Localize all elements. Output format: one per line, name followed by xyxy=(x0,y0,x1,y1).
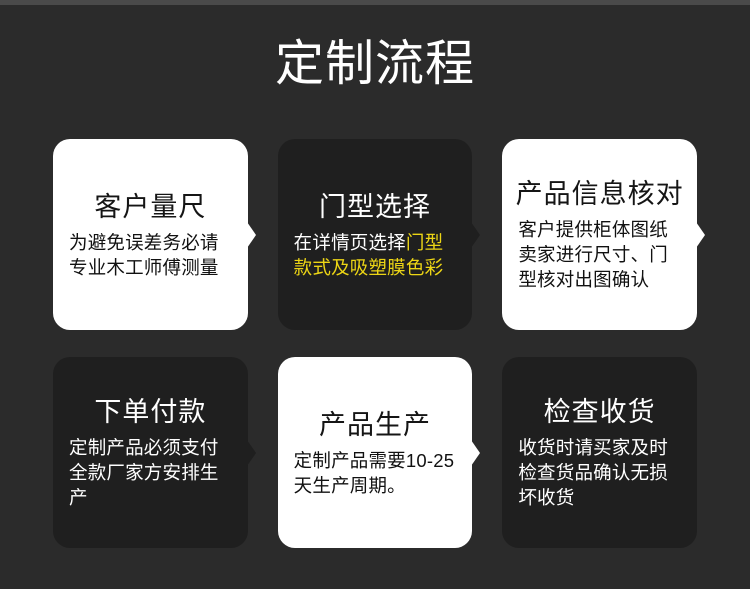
step-5-description: 定制产品需要10-25 天生产周期。 xyxy=(290,448,461,498)
step-6-desc-line-1: 收货时请买家及时 xyxy=(518,435,681,460)
step-card-3[interactable]: 产品信息核对 客户提供柜体图纸 卖家进行尺寸、门 型核对出图确认 xyxy=(502,139,697,330)
customization-process-infographic: 定制流程 客户量尺 为避免误差务必请 专业木工师傅测量 门型选择 在详情页选择门… xyxy=(0,0,750,589)
step-1-title: 客户量尺 xyxy=(65,190,236,224)
step-3-description: 客户提供柜体图纸 卖家进行尺寸、门 型核对出图确认 xyxy=(514,217,685,292)
steps-row-2: 下单付款 定制产品必须支付 全款厂家方安排生 产 产品生产 定制产品需要10-2… xyxy=(53,357,697,548)
step-5-desc-line-2: 天生产周期。 xyxy=(294,473,457,498)
step-4-desc-line-3: 产 xyxy=(69,485,232,510)
step-3-desc-line-2: 卖家进行尺寸、门 xyxy=(518,242,681,267)
step-5-title: 产品生产 xyxy=(290,408,461,442)
step-1-desc-line-1: 为避免误差务必请 xyxy=(69,230,232,255)
step-card-6[interactable]: 检查收货 收货时请买家及时 检查货品确认无损 坏收货 xyxy=(502,357,697,548)
step-2-title: 门型选择 xyxy=(290,190,461,224)
step-6-description: 收货时请买家及时 检查货品确认无损 坏收货 xyxy=(514,435,685,510)
step-card-5[interactable]: 产品生产 定制产品需要10-25 天生产周期。 xyxy=(278,357,473,548)
step-2-desc-highlight-part-1: 门型 xyxy=(406,232,443,253)
step-6-desc-line-2: 检查货品确认无损 xyxy=(518,460,681,485)
step-card-1[interactable]: 客户量尺 为避免误差务必请 专业木工师傅测量 xyxy=(53,139,248,330)
arrow-right-icon xyxy=(471,222,480,248)
step-card-2[interactable]: 门型选择 在详情页选择门型 款式及吸塑膜色彩 xyxy=(278,139,473,330)
arrow-right-icon xyxy=(471,440,480,466)
steps-row-1: 客户量尺 为避免误差务必请 专业木工师傅测量 门型选择 在详情页选择门型 款式及… xyxy=(53,139,697,330)
top-edge-strip xyxy=(0,0,750,5)
step-5-desc-line-1: 定制产品需要10-25 xyxy=(294,448,457,473)
arrow-right-icon xyxy=(247,440,256,466)
step-1-desc-line-2: 专业木工师傅测量 xyxy=(69,255,232,280)
step-3-title: 产品信息核对 xyxy=(514,177,685,211)
step-6-desc-line-3: 坏收货 xyxy=(518,485,681,510)
step-card-4[interactable]: 下单付款 定制产品必须支付 全款厂家方安排生 产 xyxy=(53,357,248,548)
step-2-description: 在详情页选择门型 款式及吸塑膜色彩 xyxy=(290,230,461,280)
step-2-desc-line-1: 在详情页选择门型 xyxy=(294,230,457,255)
step-4-desc-line-1: 定制产品必须支付 xyxy=(69,435,232,460)
step-3-desc-line-3: 型核对出图确认 xyxy=(518,267,681,292)
arrow-right-icon xyxy=(696,222,705,248)
step-4-title: 下单付款 xyxy=(65,395,236,429)
arrow-right-icon xyxy=(247,222,256,248)
step-2-desc-highlight-part-2: 款式及吸塑膜色彩 xyxy=(294,255,457,280)
steps-grid: 客户量尺 为避免误差务必请 专业木工师傅测量 门型选择 在详情页选择门型 款式及… xyxy=(53,139,697,548)
step-1-description: 为避免误差务必请 专业木工师傅测量 xyxy=(65,230,236,280)
step-6-title: 检查收货 xyxy=(514,395,685,429)
page-title: 定制流程 xyxy=(0,36,750,92)
step-4-desc-line-2: 全款厂家方安排生 xyxy=(69,460,232,485)
step-2-desc-normal: 在详情页选择 xyxy=(294,232,406,253)
step-4-description: 定制产品必须支付 全款厂家方安排生 产 xyxy=(65,435,236,510)
step-3-desc-line-1: 客户提供柜体图纸 xyxy=(518,217,681,242)
